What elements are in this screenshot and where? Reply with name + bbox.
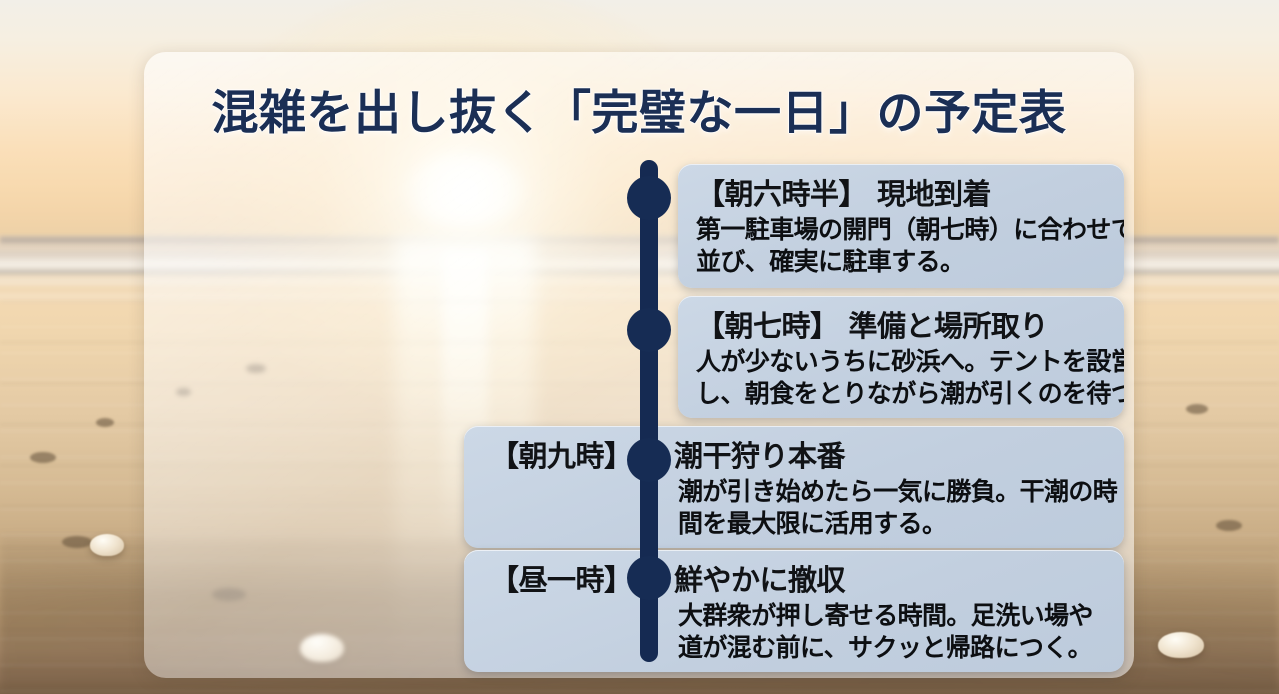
card-head: 【朝七時】 準備と場所取り xyxy=(696,303,1110,345)
pebble xyxy=(30,452,56,463)
card-title: 鮮やかに撤収 xyxy=(674,557,845,599)
card-body-line: し、朝食をとりながら潮が引くのを待つ。 xyxy=(696,378,1110,410)
pebble xyxy=(1186,404,1208,414)
schedule-card-setup[interactable]: 【朝七時】 準備と場所取り 人が少ないうちに砂浜へ。テントを設営 し、朝食をとり… xyxy=(678,296,1124,418)
card-time: 【朝七時】 xyxy=(696,303,839,345)
card-body: 第一駐車場の開門（朝七時）に合わせて 並び、確実に駐車する。 xyxy=(696,214,1110,278)
card-body: 人が少ないうちに砂浜へ。テントを設営 し、朝食をとりながら潮が引くのを待つ。 xyxy=(696,346,1110,410)
card-head: 【朝九時】 潮干狩り本番 xyxy=(490,433,1110,475)
card-time: 【昼一時】 xyxy=(490,557,642,599)
vertical-timeline xyxy=(640,160,658,662)
timeline-dot-2 xyxy=(627,308,671,352)
pebble xyxy=(1216,520,1242,531)
card-body: 潮が引き始めたら一気に勝負。干潮の時 間を最大限に活用する。 xyxy=(678,476,1110,540)
card-time: 【朝六時半】 xyxy=(696,171,867,213)
timeline-dot-3 xyxy=(627,438,671,482)
card-body-line: 道が混む前に、サクッと帰路につく。 xyxy=(678,632,1110,664)
card-body-line: 第一駐車場の開門（朝七時）に合わせて xyxy=(696,214,1110,246)
card-head: 【朝六時半】 現地到着 xyxy=(696,171,1110,213)
timeline-dot-1 xyxy=(627,176,671,220)
card-body-line: 間を最大限に活用する。 xyxy=(678,508,1110,540)
card-body-line: 潮が引き始めたら一気に勝負。干潮の時 xyxy=(678,476,1110,508)
card-title: 準備と場所取り xyxy=(849,303,1049,345)
schedule-card-departure[interactable]: 【昼一時】 鮮やかに撤収 大群衆が押し寄せる時間。足洗い場や 道が混む前に、サク… xyxy=(464,550,1124,672)
seashell xyxy=(1158,632,1204,658)
card-head: 【昼一時】 鮮やかに撤収 xyxy=(490,557,1110,599)
schedule-panel: 混雑を出し抜く「完璧な一日」の予定表 【朝六時半】 現地到着 第一駐車場の開門（… xyxy=(144,52,1134,678)
card-time: 【朝九時】 xyxy=(490,433,642,475)
pebble xyxy=(96,418,114,427)
card-body-line: 人が少ないうちに砂浜へ。テントを設営 xyxy=(696,346,1110,378)
schedule-card-clam-digging[interactable]: 【朝九時】 潮干狩り本番 潮が引き始めたら一気に勝負。干潮の時 間を最大限に活用… xyxy=(464,426,1124,548)
seashell xyxy=(90,534,124,556)
card-title: 潮干狩り本番 xyxy=(674,433,845,475)
card-body: 大群衆が押し寄せる時間。足洗い場や 道が混む前に、サクッと帰路につく。 xyxy=(678,600,1110,664)
card-body-line: 並び、確実に駐車する。 xyxy=(696,246,1110,278)
card-body-line: 大群衆が押し寄せる時間。足洗い場や xyxy=(678,600,1110,632)
schedule-card-arrival[interactable]: 【朝六時半】 現地到着 第一駐車場の開門（朝七時）に合わせて 並び、確実に駐車す… xyxy=(678,164,1124,288)
pebble xyxy=(62,536,92,548)
timeline-dot-4 xyxy=(627,556,671,600)
card-title: 現地到着 xyxy=(877,171,991,213)
